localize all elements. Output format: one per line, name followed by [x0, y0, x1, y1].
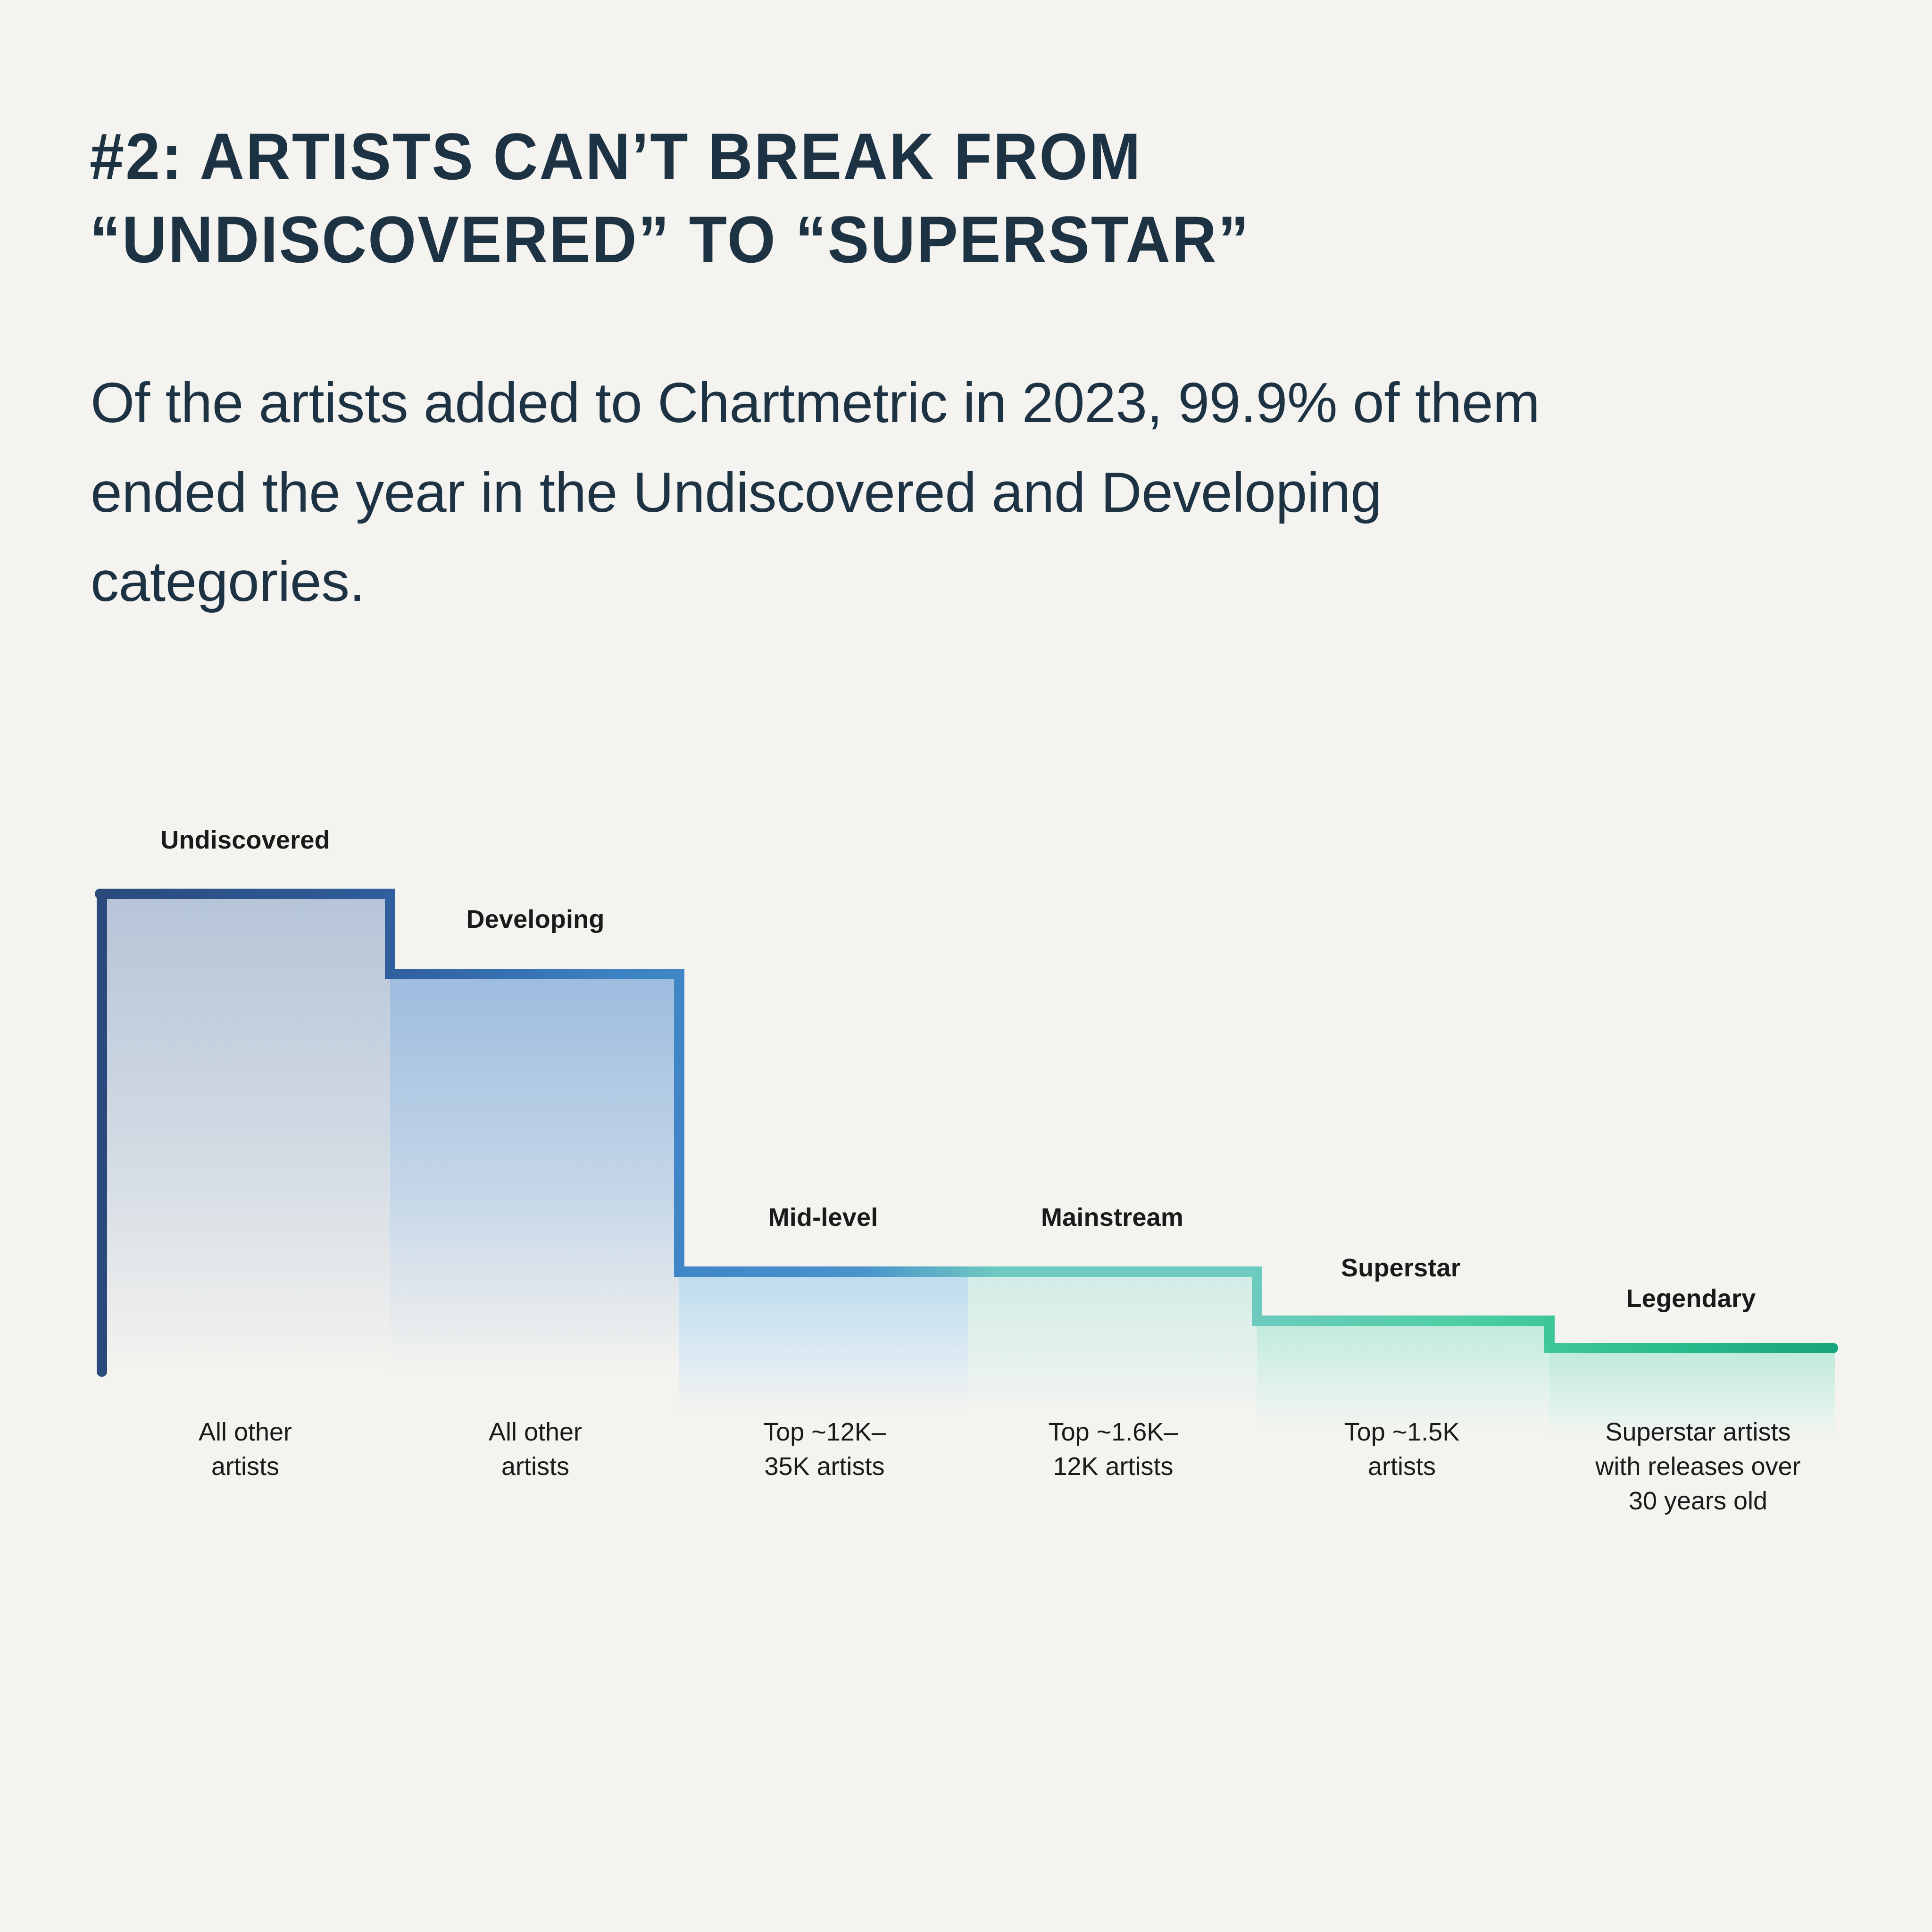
tier-label-legendary: Legendary — [1626, 1284, 1756, 1313]
tier-sublabel-undiscovered: All other artists — [113, 1415, 377, 1484]
body-paragraph: Of the artists added to Chartmetric in 2… — [91, 358, 1614, 627]
infographic-page: #2: Artists Can’t Break From “Undiscover… — [0, 0, 1932, 1932]
tier-sublabel-mid-level: Top ~12K– 35K artists — [692, 1415, 957, 1484]
tier-label-mid-level: Mid-level — [768, 1203, 878, 1232]
page-title: #2: Artists Can’t Break From “Undiscover… — [90, 115, 1597, 282]
tier-sublabel-developing: All other artists — [403, 1415, 667, 1484]
tier-sublabel-superstar: Top ~1.5K artists — [1270, 1415, 1534, 1484]
tier-sublabel-legendary: Superstar artists with releases over 30 … — [1547, 1415, 1849, 1518]
tier-label-developing: Developing — [466, 905, 604, 934]
artist-tier-step-chart — [0, 0, 1932, 1932]
tier-label-undiscovered: Undiscovered — [160, 825, 330, 855]
tier-label-mainstream: Mainstream — [1041, 1203, 1183, 1232]
tier-label-superstar: Superstar — [1341, 1253, 1461, 1282]
tier-sublabel-mainstream: Top ~1.6K– 12K artists — [981, 1415, 1245, 1484]
